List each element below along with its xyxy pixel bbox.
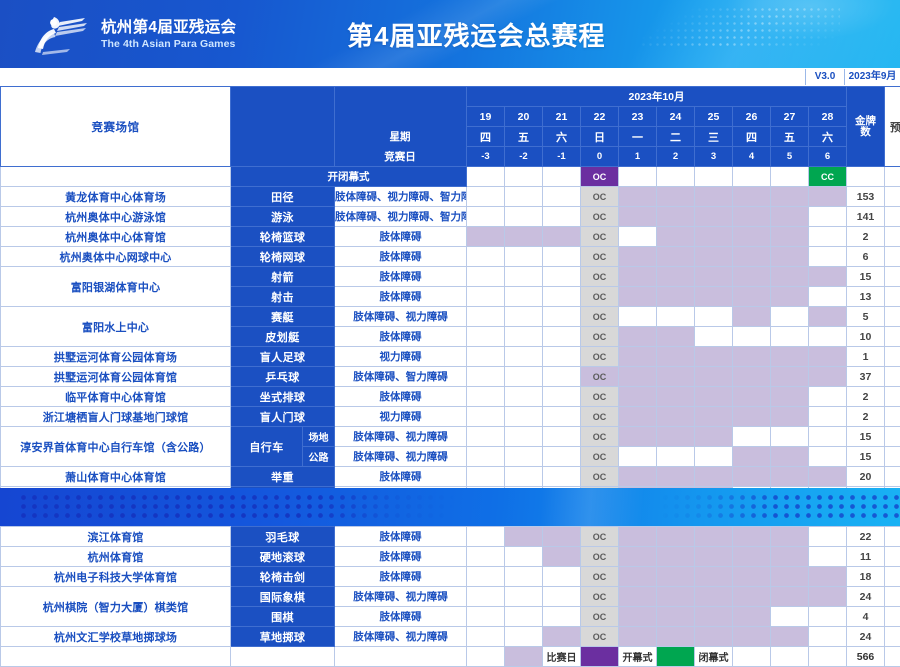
day-cell-2-6 (695, 227, 733, 247)
sport-name-10: 坐式排球 (231, 387, 335, 407)
day-cell-2-0 (467, 227, 505, 247)
th-day-19: 19 (467, 107, 505, 127)
ceremony-day-cell-5 (657, 167, 695, 187)
day-cell-12-7 (733, 427, 771, 447)
gold-count-5: 13 (847, 287, 885, 307)
day-cell-18-7 (733, 547, 771, 567)
day-cell-19-3: OC (581, 567, 619, 587)
day-cell-14-2 (543, 467, 581, 487)
day-cell-11-4 (619, 407, 657, 427)
day-cell-20-8 (771, 587, 809, 607)
venue-name-8: 拱墅运河体育公园体育场 (1, 347, 231, 367)
th-day-27: 27 (771, 107, 809, 127)
sport-name-17: 羽毛球 (231, 527, 335, 547)
day-cell-12-6 (695, 427, 733, 447)
day-cell-20-4 (619, 587, 657, 607)
day-cell-22-4 (619, 627, 657, 647)
day-cell-9-7 (733, 367, 771, 387)
day-cell-17-7 (733, 527, 771, 547)
day-cell-8-6 (695, 347, 733, 367)
table-row: 临平体育中心体育馆坐式排球肢体障碍OC25天 (1, 387, 900, 407)
day-cell-9-1 (505, 367, 543, 387)
disability-13: 肢体障碍、视力障碍 (335, 447, 467, 467)
table-row: 黄龙体育中心体育场田径肢体障碍、视力障碍、智力障碍OC1536天 (1, 187, 900, 207)
day-cell-1-3: OC (581, 207, 619, 227)
day-cell-3-7 (733, 247, 771, 267)
ceremony-row-label: 开闭幕式 (231, 167, 467, 187)
disability-18: 肢体障碍 (335, 547, 467, 567)
est-days-0: 6天 (885, 187, 900, 207)
day-cell-6-1 (505, 307, 543, 327)
day-cell-5-4 (619, 287, 657, 307)
venue-name-4: 富阳银湖体育中心 (1, 267, 231, 307)
est-days-21: 4天 (885, 607, 900, 627)
venue-name-20: 杭州棋院（智力大厦）棋类馆 (1, 587, 231, 627)
table-row: 富阳水上中心赛艇肢体障碍、视力障碍OC52天 (1, 307, 900, 327)
day-cell-11-6 (695, 407, 733, 427)
th-weekday-1: 五 (505, 127, 543, 147)
ceremony-day-cell-7 (733, 167, 771, 187)
day-cell-0-3: OC (581, 187, 619, 207)
gold-count-12: 15 (847, 427, 885, 447)
table-row: 浙江塘栖盲人门球基地门球馆盲人门球视力障碍OC25天 (1, 407, 900, 427)
day-cell-1-6 (695, 207, 733, 227)
day-cell-3-9 (809, 247, 847, 267)
est-days-14: 6天 (885, 467, 900, 487)
disability-17: 肢体障碍 (335, 527, 467, 547)
legend-swatch-closing (657, 647, 695, 667)
disability-0: 肢体障碍、视力障碍、智力障碍 (335, 187, 467, 207)
venue-name-11: 浙江塘栖盲人门球基地门球馆 (1, 407, 231, 427)
day-cell-18-6 (695, 547, 733, 567)
day-cell-3-6 (695, 247, 733, 267)
day-cell-13-0 (467, 447, 505, 467)
table-row: 杭州体育馆硬地滚球肢体障碍OC116天 (1, 547, 900, 567)
day-cell-4-9 (809, 267, 847, 287)
page-header: 杭州第4届亚残运会 The 4th Asian Para Games 第4届亚残… (0, 0, 900, 68)
day-cell-7-7 (733, 327, 771, 347)
th-compday-3: 0 (581, 147, 619, 167)
day-cell-12-8 (771, 427, 809, 447)
th-day-28: 28 (809, 107, 847, 127)
gold-count-10: 2 (847, 387, 885, 407)
day-cell-12-3: OC (581, 427, 619, 447)
day-cell-20-6 (695, 587, 733, 607)
sport-name-19: 轮椅击剑 (231, 567, 335, 587)
disability-14: 肢体障碍 (335, 467, 467, 487)
legend-sport-blank (231, 647, 335, 667)
day-cell-13-6 (695, 447, 733, 467)
day-cell-14-7 (733, 467, 771, 487)
gold-count-14: 20 (847, 467, 885, 487)
day-cell-6-2 (543, 307, 581, 327)
table-row: 富阳银湖体育中心射箭肢体障碍OC156天 (1, 267, 900, 287)
th-compday-8: 5 (771, 147, 809, 167)
brand-name-en: The 4th Asian Para Games (101, 39, 236, 51)
day-cell-6-7 (733, 307, 771, 327)
day-cell-8-5 (657, 347, 695, 367)
day-cell-0-2 (543, 187, 581, 207)
day-cell-21-9 (809, 607, 847, 627)
schedule-table-container: 竞赛场馆2023年10月金牌数预计天数19202122232425262728四… (0, 86, 900, 486)
day-cell-18-8 (771, 547, 809, 567)
th-day-23: 23 (619, 107, 657, 127)
day-cell-14-6 (695, 467, 733, 487)
sport-name-21: 围棋 (231, 607, 335, 627)
ceremony-gold-blank (847, 167, 885, 187)
day-cell-1-8 (771, 207, 809, 227)
day-cell-14-5 (657, 467, 695, 487)
day-cell-8-9 (809, 347, 847, 367)
day-cell-21-7 (733, 607, 771, 627)
th-weekday-5: 二 (657, 127, 695, 147)
table-row: 杭州奥体中心体育馆轮椅篮球肢体障碍OC27天 (1, 227, 900, 247)
day-cell-6-9 (809, 307, 847, 327)
day-cell-1-9 (809, 207, 847, 227)
est-days-1: 5天 (885, 207, 900, 227)
disability-11: 视力障碍 (335, 407, 467, 427)
day-cell-9-6 (695, 367, 733, 387)
day-cell-1-5 (657, 207, 695, 227)
day-cell-19-4 (619, 567, 657, 587)
gold-count-22: 24 (847, 627, 885, 647)
est-days-8: 6天 (885, 347, 900, 367)
day-cell-11-2 (543, 407, 581, 427)
sport-name-6: 赛艇 (231, 307, 335, 327)
day-cell-8-2 (543, 347, 581, 367)
day-cell-20-9 (809, 587, 847, 607)
day-cell-5-6 (695, 287, 733, 307)
th-weekday-7: 四 (733, 127, 771, 147)
day-cell-7-2 (543, 327, 581, 347)
sport-name-22: 草地掷球 (231, 627, 335, 647)
day-cell-13-1 (505, 447, 543, 467)
day-cell-4-3: OC (581, 267, 619, 287)
day-cell-21-1 (505, 607, 543, 627)
th-weekday-9: 六 (809, 127, 847, 147)
day-cell-22-2 (543, 627, 581, 647)
disability-2: 肢体障碍 (335, 227, 467, 247)
day-cell-5-3: OC (581, 287, 619, 307)
day-cell-22-0 (467, 627, 505, 647)
est-days-4: 6天 (885, 267, 900, 287)
day-cell-1-4 (619, 207, 657, 227)
day-cell-4-4 (619, 267, 657, 287)
day-cell-13-4 (619, 447, 657, 467)
day-cell-14-4 (619, 467, 657, 487)
sport-name-7: 皮划艇 (231, 327, 335, 347)
day-cell-1-0 (467, 207, 505, 227)
day-cell-8-3: OC (581, 347, 619, 367)
table-row: 拱墅运河体育公园体育馆乒乓球肢体障碍、智力障碍OC377天 (1, 367, 900, 387)
disability-1: 肢体障碍、视力障碍、智力障碍 (335, 207, 467, 227)
day-cell-11-7 (733, 407, 771, 427)
venue-name-2: 杭州奥体中心体育馆 (1, 227, 231, 247)
disability-12: 肢体障碍、视力障碍 (335, 427, 467, 447)
day-cell-6-6 (695, 307, 733, 327)
table-row: 杭州棋院（智力大厦）棋类馆国际象棋肢体障碍、视力障碍OC246天 (1, 587, 900, 607)
th-compday-7: 4 (733, 147, 771, 167)
gold-count-13: 15 (847, 447, 885, 467)
est-days-3: 5天 (885, 247, 900, 267)
day-cell-17-6 (695, 527, 733, 547)
venue-name-18: 杭州体育馆 (1, 547, 231, 567)
day-cell-9-9 (809, 367, 847, 387)
day-cell-19-5 (657, 567, 695, 587)
legend-label-closing: 闭幕式 (695, 647, 733, 667)
th-disability-spacer (335, 87, 467, 167)
table-body: 开闭幕式OCCC黄龙体育中心体育场田径肢体障碍、视力障碍、智力障碍OC1536天… (1, 167, 900, 667)
legend-pad-1 (733, 647, 771, 667)
day-cell-1-1 (505, 207, 543, 227)
day-cell-22-3: OC (581, 627, 619, 647)
day-cell-17-3: OC (581, 527, 619, 547)
day-cell-1-2 (543, 207, 581, 227)
day-cell-12-5 (657, 427, 695, 447)
disability-3: 肢体障碍 (335, 247, 467, 267)
day-cell-17-4 (619, 527, 657, 547)
ceremony-row-venue-blank (1, 167, 231, 187)
day-cell-18-2 (543, 547, 581, 567)
day-cell-22-8 (771, 627, 809, 647)
day-cell-18-1 (505, 547, 543, 567)
day-cell-7-0 (467, 327, 505, 347)
version-strip: V3.0 2023年9月 (0, 68, 900, 86)
page-footer-decoration (0, 488, 900, 526)
day-cell-5-5 (657, 287, 695, 307)
day-cell-14-3: OC (581, 467, 619, 487)
legend-total-gold: 566 (847, 647, 885, 667)
day-cell-20-7 (733, 587, 771, 607)
legend-pad-0 (467, 647, 505, 667)
day-cell-5-7 (733, 287, 771, 307)
day-cell-8-0 (467, 347, 505, 367)
day-cell-7-8 (771, 327, 809, 347)
ceremony-days-blank (885, 167, 900, 187)
sport-name-1: 游泳 (231, 207, 335, 227)
th-day-26: 26 (733, 107, 771, 127)
version-number: V3.0 (806, 68, 844, 86)
table-row: 萧山体育中心体育馆举重肢体障碍OC206天 (1, 467, 900, 487)
table-row: 滨江体育馆羽毛球肢体障碍OC227天 (1, 527, 900, 547)
day-cell-10-8 (771, 387, 809, 407)
day-cell-0-7 (733, 187, 771, 207)
day-cell-20-2 (543, 587, 581, 607)
day-cell-17-0 (467, 527, 505, 547)
footer-light-sweep (427, 488, 754, 526)
day-cell-19-2 (543, 567, 581, 587)
day-cell-5-1 (505, 287, 543, 307)
day-cell-10-4 (619, 387, 657, 407)
day-cell-0-4 (619, 187, 657, 207)
day-cell-2-2 (543, 227, 581, 247)
day-cell-2-1 (505, 227, 543, 247)
day-cell-0-5 (657, 187, 695, 207)
venue-name-22: 杭州文汇学校草地掷球场 (1, 627, 231, 647)
disability-8: 视力障碍 (335, 347, 467, 367)
page-title: 第4届亚残运会总赛程 (347, 16, 605, 53)
gold-count-8: 1 (847, 347, 885, 367)
venue-name-12: 淳安界首体育中心自行车馆（含公路） (1, 427, 231, 467)
day-cell-10-7 (733, 387, 771, 407)
day-cell-12-0 (467, 427, 505, 447)
day-cell-3-3: OC (581, 247, 619, 267)
th-compday-0: -3 (467, 147, 505, 167)
legend-label-opening: 开幕式 (619, 647, 657, 667)
day-cell-9-4 (619, 367, 657, 387)
day-cell-2-4 (619, 227, 657, 247)
day-cell-7-6 (695, 327, 733, 347)
day-cell-11-3: OC (581, 407, 619, 427)
day-cell-6-0 (467, 307, 505, 327)
sport-name-0: 田径 (231, 187, 335, 207)
day-cell-6-3: OC (581, 307, 619, 327)
sport-name-12: 自行车 (231, 427, 303, 467)
legend-pad-3 (809, 647, 847, 667)
brand-lockup: 杭州第4届亚残运会 The 4th Asian Para Games (30, 14, 236, 56)
legend-days-blank (885, 647, 900, 667)
th-compday-5: 2 (657, 147, 695, 167)
venue-name-14: 萧山体育中心体育馆 (1, 467, 231, 487)
day-cell-5-2 (543, 287, 581, 307)
gold-count-3: 6 (847, 247, 885, 267)
day-cell-21-8 (771, 607, 809, 627)
est-days-5: 5天 (885, 287, 900, 307)
version-date: 2023年9月 (845, 68, 900, 86)
gold-count-19: 18 (847, 567, 885, 587)
day-cell-0-8 (771, 187, 809, 207)
venue-name-10: 临平体育中心体育馆 (1, 387, 231, 407)
legend-disability-blank (335, 647, 467, 667)
ceremony-day-cell-8 (771, 167, 809, 187)
day-cell-13-9 (809, 447, 847, 467)
day-cell-1-7 (733, 207, 771, 227)
day-cell-12-4 (619, 427, 657, 447)
gold-count-2: 2 (847, 227, 885, 247)
gold-count-11: 2 (847, 407, 885, 427)
day-cell-2-3: OC (581, 227, 619, 247)
day-cell-3-8 (771, 247, 809, 267)
day-cell-10-3: OC (581, 387, 619, 407)
day-cell-4-1 (505, 267, 543, 287)
day-cell-3-2 (543, 247, 581, 267)
day-cell-7-5 (657, 327, 695, 347)
day-cell-10-9 (809, 387, 847, 407)
th-day-20: 20 (505, 107, 543, 127)
day-cell-2-9 (809, 227, 847, 247)
venue-name-17: 滨江体育馆 (1, 527, 231, 547)
day-cell-22-1 (505, 627, 543, 647)
day-cell-9-3: OC (581, 367, 619, 387)
day-cell-13-5 (657, 447, 695, 467)
th-weekday-4: 一 (619, 127, 657, 147)
day-cell-19-8 (771, 567, 809, 587)
day-cell-9-0 (467, 367, 505, 387)
day-cell-21-0 (467, 607, 505, 627)
day-cell-20-0 (467, 587, 505, 607)
gold-count-4: 15 (847, 267, 885, 287)
th-compday-2: -1 (543, 147, 581, 167)
ceremony-day-cell-6 (695, 167, 733, 187)
table-row: 拱墅运河体育公园体育场盲人足球视力障碍OC16天 (1, 347, 900, 367)
est-days-10: 5天 (885, 387, 900, 407)
disability-9: 肢体障碍、智力障碍 (335, 367, 467, 387)
table-row: 杭州电子科技大学体育馆轮椅击剑肢体障碍OC186天 (1, 567, 900, 587)
day-cell-5-0 (467, 287, 505, 307)
day-cell-3-5 (657, 247, 695, 267)
sport-name-9: 乒乓球 (231, 367, 335, 387)
gold-count-7: 10 (847, 327, 885, 347)
table-row: 杭州奥体中心网球中心轮椅网球肢体障碍OC65天 (1, 247, 900, 267)
day-cell-8-8 (771, 347, 809, 367)
legend-swatch-opening (581, 647, 619, 667)
est-days-18: 6天 (885, 547, 900, 567)
ceremony-day-cell-0 (467, 167, 505, 187)
ceremony-day-cell-2 (543, 167, 581, 187)
th-day-24: 24 (657, 107, 695, 127)
day-cell-0-1 (505, 187, 543, 207)
day-cell-14-0 (467, 467, 505, 487)
disability-22: 肢体障碍、视力障碍 (335, 627, 467, 647)
venue-name-19: 杭州电子科技大学体育馆 (1, 567, 231, 587)
th-venue: 竞赛场馆 (1, 87, 231, 167)
day-cell-4-7 (733, 267, 771, 287)
day-cell-7-9 (809, 327, 847, 347)
disability-19: 肢体障碍 (335, 567, 467, 587)
day-cell-10-0 (467, 387, 505, 407)
legend-swatch-competition (505, 647, 543, 667)
day-cell-20-1 (505, 587, 543, 607)
day-cell-4-0 (467, 267, 505, 287)
day-cell-8-1 (505, 347, 543, 367)
day-cell-12-9 (809, 427, 847, 447)
gold-count-0: 153 (847, 187, 885, 207)
th-compday-9: 6 (809, 147, 847, 167)
gold-count-18: 11 (847, 547, 885, 567)
day-cell-17-2 (543, 527, 581, 547)
day-cell-12-1 (505, 427, 543, 447)
day-cell-10-6 (695, 387, 733, 407)
sport-name-2: 轮椅篮球 (231, 227, 335, 247)
venue-name-0: 黄龙体育中心体育场 (1, 187, 231, 207)
th-weekday-0: 四 (467, 127, 505, 147)
day-cell-21-6 (695, 607, 733, 627)
schedule-table: 竞赛场馆2023年10月金牌数预计天数19202122232425262728四… (0, 86, 900, 667)
th-gold-count: 金牌数 (847, 87, 885, 167)
day-cell-10-5 (657, 387, 695, 407)
est-days-6: 2天 (885, 307, 900, 327)
day-cell-4-5 (657, 267, 695, 287)
th-weekday-2: 六 (543, 127, 581, 147)
est-days-22: 6天 (885, 627, 900, 647)
brand-name-cn: 杭州第4届亚残运会 (101, 19, 236, 36)
gold-count-20: 24 (847, 587, 885, 607)
day-cell-8-7 (733, 347, 771, 367)
day-cell-20-3: OC (581, 587, 619, 607)
venue-name-9: 拱墅运河体育公园体育馆 (1, 367, 231, 387)
sport-name-8: 盲人足球 (231, 347, 335, 367)
disability-20: 肢体障碍、视力障碍 (335, 587, 467, 607)
sport-name-11: 盲人门球 (231, 407, 335, 427)
disability-10: 肢体障碍 (335, 387, 467, 407)
day-cell-19-9 (809, 567, 847, 587)
est-days-11: 5天 (885, 407, 900, 427)
est-days-7: 2天 (885, 327, 900, 347)
day-cell-3-1 (505, 247, 543, 267)
day-cell-3-4 (619, 247, 657, 267)
th-compday-4: 1 (619, 147, 657, 167)
day-cell-18-4 (619, 547, 657, 567)
